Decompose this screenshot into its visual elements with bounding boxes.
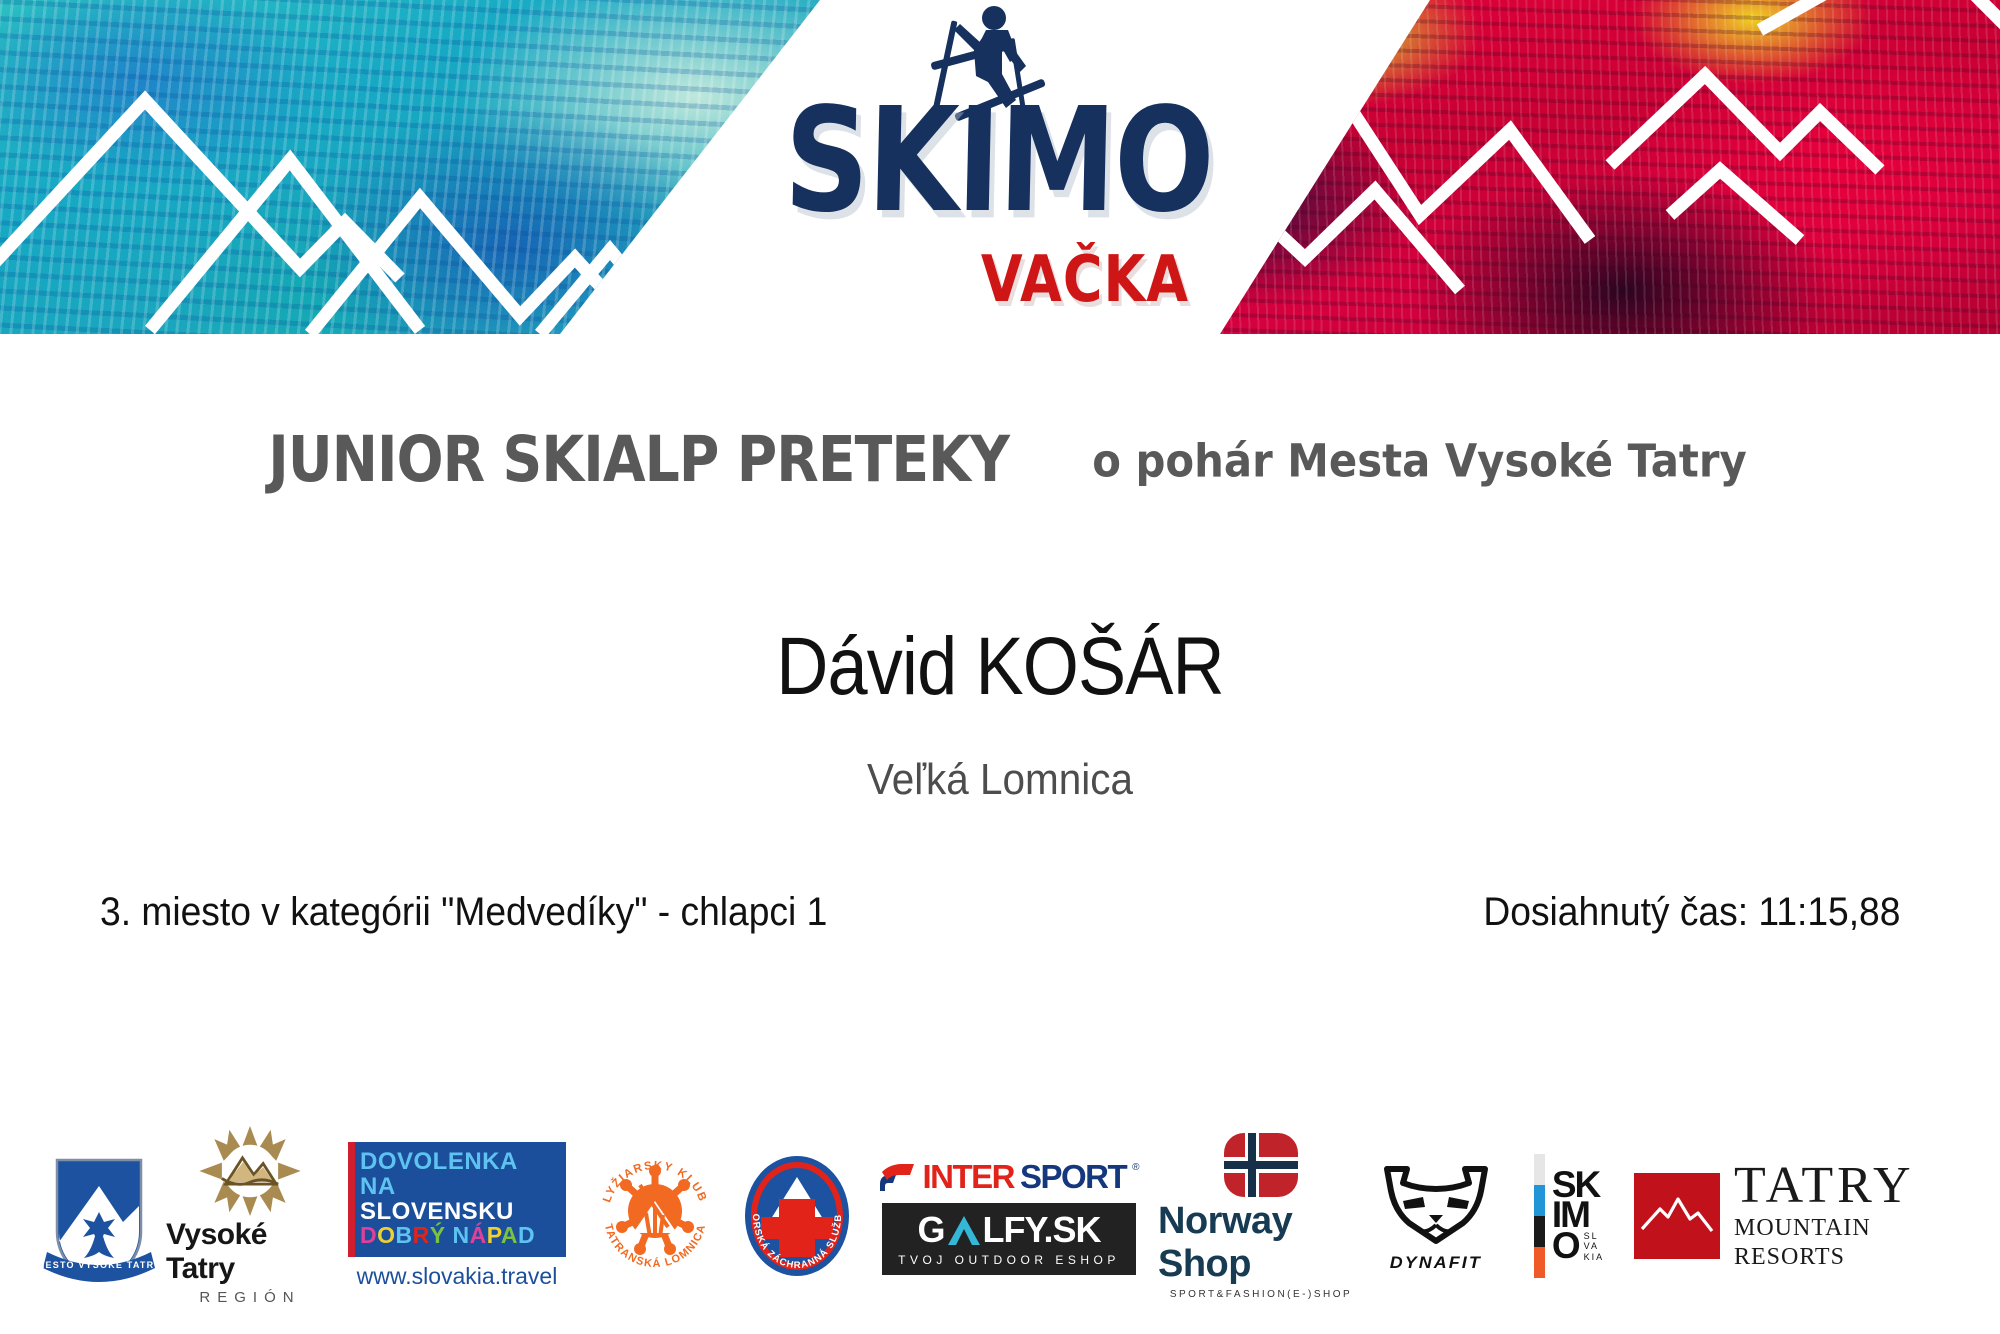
skimo-slovakia-tiny: SL VA KIA [1584,1231,1605,1262]
skimo-letters: SK IM O SL VA KIA [1552,1154,1604,1278]
sponsor-logo-vysoke-tatry-region: Vysoké Tatry REGIÓN [166,1126,334,1306]
sponsor-logo-strip: MESTO VYSOKÉ TATRY Vysoké Tatry REGIÓN D… [0,1116,2000,1316]
slovakia-travel-url: www.slovakia.travel [357,1263,558,1290]
galfy-peak-icon [946,1213,982,1247]
edelweiss-mountain-icon [196,1126,304,1216]
result-time: Dosiahnutý čas: 11:15,88 [1483,890,1900,935]
intersport-logo: INTERSPORT® [878,1158,1139,1196]
norway-flag-icon [1223,1132,1299,1198]
flag-bars-icon [1534,1154,1545,1278]
vysoke-tatry-name: Vysoké Tatry [166,1218,334,1286]
page-title: JUNIOR SKIALP PRETEKY [268,423,1009,497]
tmr-sub: MOUNTAIN RESORTS [1734,1214,1964,1272]
event-title-row: JUNIOR SKIALP PRETEKYo pohár Mesta Vysok… [0,425,2000,495]
mountain-outline-left-icon [0,0,820,334]
vysoke-tatry-sub: REGIÓN [199,1289,300,1306]
dovolenka-line1: DOVOLENKA NA [360,1150,556,1200]
tmr-peak-icon [1634,1173,1720,1259]
athlete-club: Veľká Lomnica [80,755,1920,805]
galfy-wordmark: G LFY.SK [917,1212,1100,1248]
tmr-mark: TATRY MOUNTAIN RESORTS [1634,1160,1964,1272]
skimo-logo: SKIMO VAČKA [730,0,1270,334]
tiny-va: VA [1584,1241,1605,1251]
sponsor-logo-slovakia-travel: DOVOLENKA NA SLOVENSKU DOBRÝ NÁPAD www.s… [338,1126,576,1306]
result-placement: 3. miesto v kategórii "Medvedíky" - chla… [100,890,827,935]
dynafit-name: DYNAFIT [1390,1253,1482,1273]
red-accent-bar [348,1142,355,1258]
skimo-o-row: O SL VA KIA [1552,1231,1604,1262]
skimo-slovakia-mark: SK IM O SL VA KIA [1534,1154,1604,1278]
dovolenka-line3: DOBRÝ NÁPAD [360,1224,556,1248]
sponsor-logo-tatry-mountain-resorts: TATRY MOUNTAIN RESORTS [1634,1126,1964,1306]
intersport-sport: SPORT [1020,1158,1126,1196]
galfy-rest: LFY.SK [983,1212,1101,1248]
intersport-reg: ® [1132,1162,1139,1173]
banner-left-panel [0,0,820,334]
tmr-text: TATRY MOUNTAIN RESORTS [1734,1160,1964,1272]
tiny-sl: SL [1584,1231,1605,1241]
sponsor-logo-intersport-galfy: INTERSPORT® G LFY.SK TVOJ OUTDOOR ESHOP [864,1126,1154,1306]
norway-shop-name: Norway Shop [1158,1200,1364,1286]
mountain-rescue-emblem-icon: HORSKÁ ZÁCHRANNÁ SLUŽBA [741,1149,853,1283]
skimo-o: O [1552,1231,1579,1261]
intersport-swoosh-icon [878,1162,916,1192]
sponsor-logo-skimo-slovakia: SK IM O SL VA KIA [1508,1126,1630,1306]
header-banner: SKIMO VAČKA [0,0,2000,334]
dovolenka-line2: SLOVENSKU [360,1200,556,1225]
galfy-g: G [917,1212,944,1248]
vacka-wordmark: VAČKA [730,248,1270,312]
sponsor-logo-dynafit: DYNAFIT [1368,1126,1504,1306]
galfy-tagline: TVOJ OUTDOOR ESHOP [898,1253,1120,1267]
tiny-kia: KIA [1584,1252,1605,1262]
banner-right-panel [1160,0,2000,334]
crest-ribbon-text: MESTO VYSOKÉ TATRY [43,1260,155,1270]
page-subtitle: o pohár Mesta Vysoké Tatry [1092,435,1747,488]
norway-shop-sub: SPORT&FASHION(E-)SHOP [1170,1289,1352,1300]
sponsor-logo-horska-zachranna-sluzba: HORSKÁ ZÁCHRANNÁ SLUŽBA [734,1126,860,1306]
athlete-name: Dávid KOŠÁR [120,620,1880,714]
sponsor-logo-mesto-vysoke-tatry: MESTO VYSOKÉ TATRY [36,1126,162,1306]
sponsor-logo-norway-shop: Norway Shop SPORT&FASHION(E-)SHOP [1158,1126,1364,1306]
mountain-outline-right-icon [1160,0,2000,334]
sponsor-logo-lyziarsky-klub: LYŽIARSKY KLUB TATRANSKÁ LOMNICA [580,1126,730,1306]
dynafit-lynx-icon [1377,1159,1495,1249]
skimo-wordmark: SKIMO [727,88,1270,232]
intersport-inter: INTER [922,1158,1014,1196]
tmr-red-square-icon [1634,1173,1720,1259]
dovolenka-box: DOVOLENKA NA SLOVENSKU DOBRÝ NÁPAD [348,1142,566,1258]
ski-club-emblem-icon: LYŽIARSKY KLUB TATRANSKÁ LOMNICA [588,1149,722,1283]
galfy-logo: G LFY.SK TVOJ OUTDOOR ESHOP [882,1203,1136,1275]
tmr-name: TATRY [1734,1160,1964,1212]
city-crest-icon: MESTO VYSOKÉ TATRY [43,1146,155,1286]
result-row: 3. miesto v kategórii "Medvedíky" - chla… [0,890,2000,950]
